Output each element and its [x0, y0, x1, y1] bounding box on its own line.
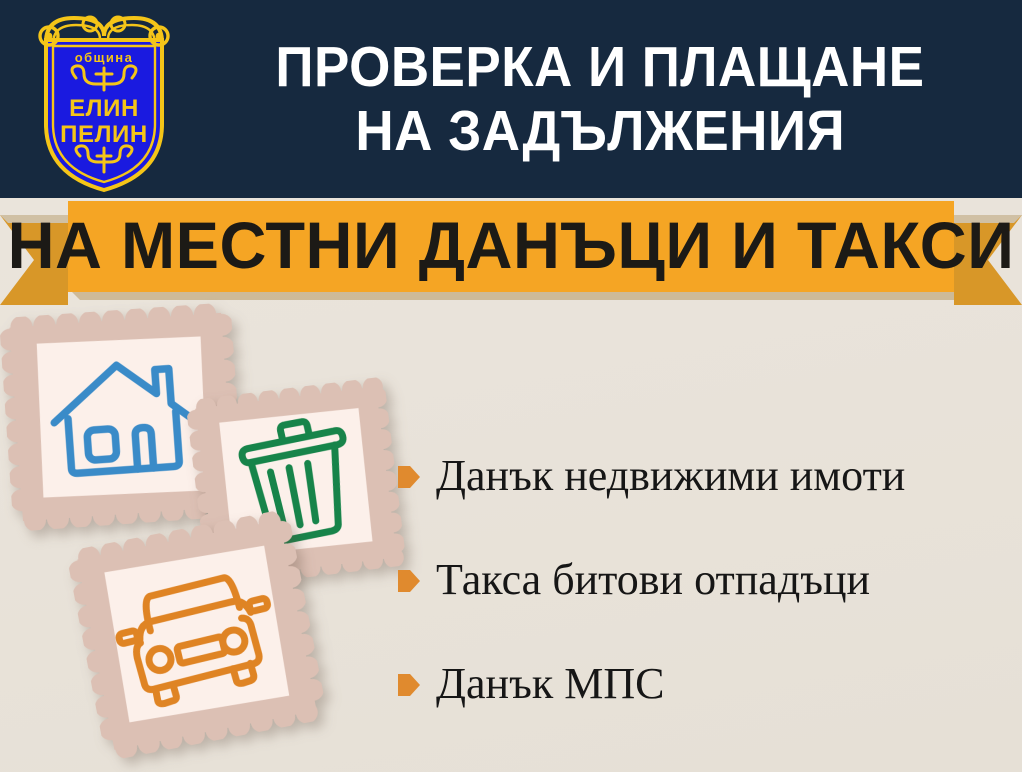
- crest-word-elin: ЕЛИН: [69, 95, 139, 122]
- list-item-label: Данък МПС: [436, 661, 664, 707]
- ribbon-banner: НА МЕСТНИ ДАНЪЦИ И ТАКСИ: [0, 196, 1022, 311]
- tax-type-list: Данък недвижими имоти Такса битови отпад…: [398, 424, 1014, 736]
- page-title-line-2: НА ЗАДЪЛЖЕНИЯ: [355, 100, 845, 164]
- list-item-label: Данък недвижими имоти: [436, 453, 905, 499]
- list-item-label: Такса битови отпадъци: [436, 557, 870, 603]
- arrow-pentagon-bullet-icon: [398, 672, 420, 698]
- stamp-car: [66, 508, 329, 761]
- list-item[interactable]: Данък МПС: [398, 632, 1014, 736]
- list-item[interactable]: Такса битови отпадъци: [398, 528, 1014, 632]
- municipality-coat-of-arms-icon: община ЕЛИН ПЕЛИН: [24, 6, 184, 194]
- page-title: ПРОВЕРКА И ПЛАЩАНЕ НА ЗАДЪЛЖЕНИЯ: [186, 16, 1014, 184]
- crest-word-pelin: ПЕЛИН: [60, 121, 148, 148]
- crest-word-obshtina: община: [75, 50, 133, 65]
- stamp-group: [0, 296, 430, 772]
- arrow-pentagon-bullet-icon: [398, 568, 420, 594]
- arrow-pentagon-bullet-icon: [398, 464, 420, 490]
- page-title-line-1: ПРОВЕРКА И ПЛАЩАНЕ: [275, 36, 924, 100]
- ribbon-text-svg: НА МЕСТНИ ДАНЪЦИ И ТАКСИ: [8, 209, 1015, 283]
- poster-root: община ЕЛИН ПЕЛИН ПРОВЕРКА И ПЛАЩАНЕ НА …: [0, 0, 1022, 772]
- list-item[interactable]: Данък недвижими имоти: [398, 424, 1014, 528]
